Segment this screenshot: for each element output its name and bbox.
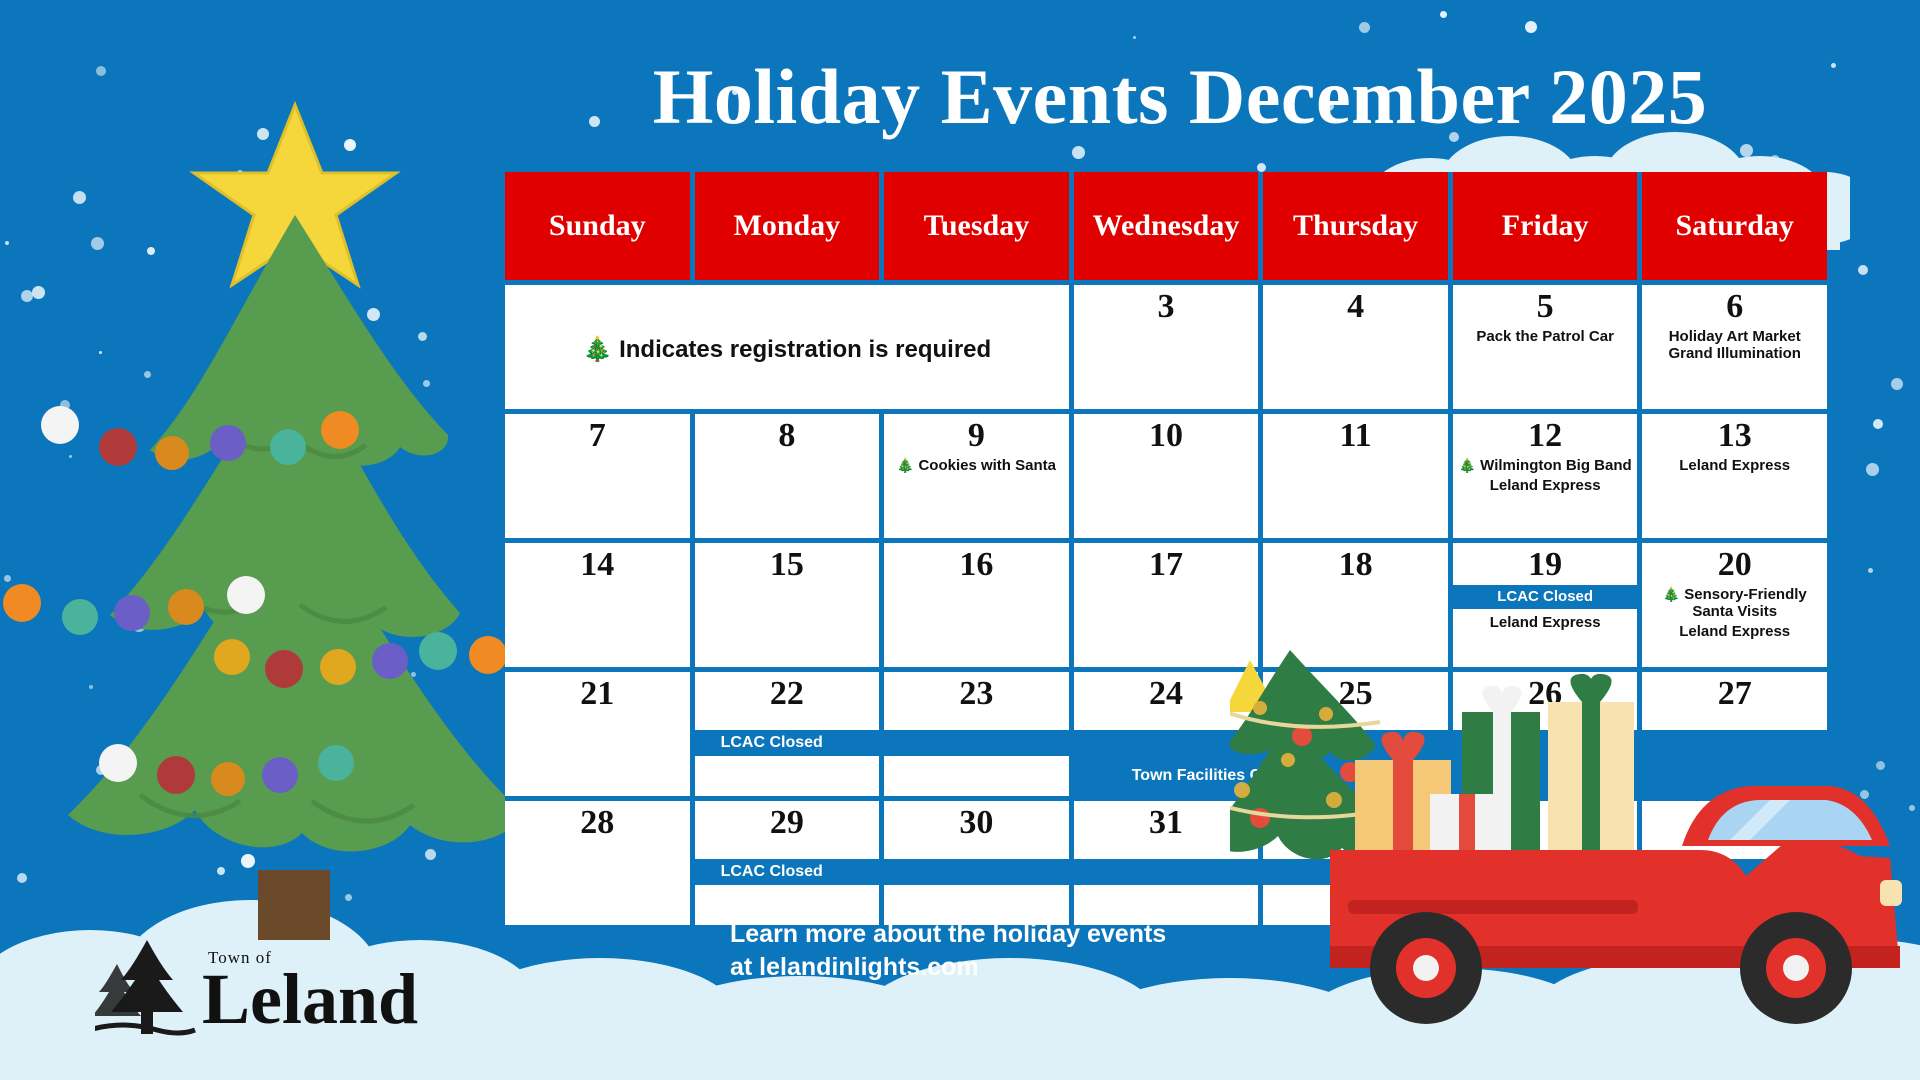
weekday-thursday: Thursday xyxy=(1263,172,1448,280)
day-number: 29 xyxy=(770,805,804,841)
day-cell-11[interactable]: 11 xyxy=(1263,414,1448,538)
christmas-tree-icon: 🎄 xyxy=(1459,457,1476,473)
calendar-week-2: 7 8 9 🎄 Cookies with Santa 10 11 12 🎄 Wi… xyxy=(505,414,1827,538)
day-number: 5 xyxy=(1537,289,1554,325)
day-cell-15[interactable]: 15 xyxy=(695,543,880,667)
event-label: 🎄 Cookies with Santa xyxy=(893,457,1060,474)
day-number: 4 xyxy=(1347,289,1364,325)
day-cell-14[interactable]: 14 xyxy=(505,543,690,667)
day-number: 15 xyxy=(770,547,804,583)
event-label: Pack the Patrol Car xyxy=(1472,328,1618,345)
day-cell-28[interactable]: 28 xyxy=(505,801,690,859)
day-cell-4[interactable]: 4 xyxy=(1263,285,1448,409)
christmas-tree-icon: 🎄 xyxy=(583,336,613,363)
christmas-tree-icon: 🎄 xyxy=(897,457,914,473)
event-label: Grand Illumination xyxy=(1664,345,1805,362)
day-cell-19[interactable]: 19 LCAC Closed Leland Express xyxy=(1453,543,1638,667)
day-number: 10 xyxy=(1149,418,1183,454)
day-number: 13 xyxy=(1718,418,1752,454)
day-cell-22[interactable]: 22 xyxy=(695,672,880,730)
day-number: 19 xyxy=(1528,547,1562,583)
event-label: Holiday Art Market xyxy=(1665,328,1805,345)
pine-trees-icon xyxy=(95,940,195,1034)
event-text: Cookies with Santa xyxy=(918,457,1056,474)
day-number: 14 xyxy=(580,547,614,583)
day-sub-cell xyxy=(884,756,1069,796)
day-number: 22 xyxy=(770,676,804,712)
weekday-monday: Monday xyxy=(695,172,880,280)
day-cell-5[interactable]: 5 Pack the Patrol Car xyxy=(1453,285,1638,409)
registration-note-text: Indicates registration is required xyxy=(619,336,991,363)
footer-info: Learn more about the holiday events at l… xyxy=(730,918,1166,984)
registration-note: 🎄 Indicates registration is required xyxy=(583,335,992,364)
day-cell-10[interactable]: 10 xyxy=(1074,414,1259,538)
day-number: 21 xyxy=(580,676,614,712)
day-number: 18 xyxy=(1339,547,1373,583)
day-cell-23[interactable]: 23 xyxy=(884,672,1069,730)
day-number: 17 xyxy=(1149,547,1183,583)
day-number: 3 xyxy=(1157,289,1174,325)
day-sub-cell xyxy=(695,756,880,796)
weekday-friday: Friday xyxy=(1453,172,1638,280)
red-truck-with-gifts-illustration xyxy=(1230,650,1920,1070)
event-text: Sensory-Friendly Santa Visits xyxy=(1684,586,1807,620)
day-number: 7 xyxy=(589,418,606,454)
event-text: Wilmington Big Band xyxy=(1480,457,1632,474)
weekday-saturday: Saturday xyxy=(1642,172,1827,280)
christmas-tree-icon: 🎄 xyxy=(1663,586,1680,602)
day-sub-cell xyxy=(505,885,690,925)
banner-spacer xyxy=(505,730,690,756)
gift-boxes xyxy=(1355,674,1634,852)
footer-line-1: Learn more about the holiday events xyxy=(730,918,1166,951)
logo-leland-label: Leland xyxy=(202,963,418,1035)
christmas-tree-illustration xyxy=(0,95,560,975)
day-number: 16 xyxy=(959,547,993,583)
registration-note-cell: 🎄 Indicates registration is required xyxy=(505,285,1069,409)
day-cell-17[interactable]: 17 xyxy=(1074,543,1259,667)
day-cell-21[interactable]: 21 xyxy=(505,672,690,730)
day-number: 8 xyxy=(778,418,795,454)
day-cell-8[interactable]: 8 xyxy=(695,414,880,538)
day-cell-20[interactable]: 20 🎄 Sensory-Friendly Santa Visits Lelan… xyxy=(1642,543,1827,667)
day-cell-7[interactable]: 7 xyxy=(505,414,690,538)
day-number: 11 xyxy=(1340,418,1372,454)
day-number: 20 xyxy=(1718,547,1752,583)
day-number: 9 xyxy=(968,418,985,454)
weekday-header-row: Sunday Monday Tuesday Wednesday Thursday… xyxy=(505,172,1827,280)
weekday-tuesday: Tuesday xyxy=(884,172,1069,280)
calendar-week-3: 14 15 16 17 18 19 LCAC Closed Leland Exp… xyxy=(505,543,1827,667)
footer-line-2: at lelandinlights.com xyxy=(730,951,1166,984)
event-label: Leland Express xyxy=(1675,457,1794,474)
day-number: 12 xyxy=(1528,418,1562,454)
day-cell-30[interactable]: 30 xyxy=(884,801,1069,859)
day-cell-13[interactable]: 13 Leland Express xyxy=(1642,414,1827,538)
day-cell-3[interactable]: 3 xyxy=(1074,285,1259,409)
weekday-wednesday: Wednesday xyxy=(1074,172,1259,280)
day-cell-9[interactable]: 9 🎄 Cookies with Santa xyxy=(884,414,1069,538)
day-cell-16[interactable]: 16 xyxy=(884,543,1069,667)
day-number: 28 xyxy=(580,805,614,841)
event-label: Leland Express xyxy=(1675,623,1794,640)
day-number: 23 xyxy=(959,676,993,712)
event-label: 🎄 Sensory-Friendly Santa Visits xyxy=(1642,586,1827,621)
day-sub-cell xyxy=(505,756,690,796)
closure-banner-lcac: LCAC Closed xyxy=(1453,585,1638,609)
event-label: Leland Express xyxy=(1453,609,1638,635)
day-number: 30 xyxy=(959,805,993,841)
day-cell-29[interactable]: 29 xyxy=(695,801,880,859)
day-number: 24 xyxy=(1149,676,1183,712)
day-number: 31 xyxy=(1149,805,1183,841)
day-number: 6 xyxy=(1726,289,1743,325)
calendar-week-1: 🎄 Indicates registration is required 3 4… xyxy=(505,285,1827,409)
day-cell-18[interactable]: 18 xyxy=(1263,543,1448,667)
day-cell-12[interactable]: 12 🎄 Wilmington Big Band Leland Express xyxy=(1453,414,1638,538)
weekday-sunday: Sunday xyxy=(505,172,690,280)
day-cell-6[interactable]: 6 Holiday Art Market Grand Illumination xyxy=(1642,285,1827,409)
page-title: Holiday Events December 2025 xyxy=(480,52,1880,142)
event-label: Leland Express xyxy=(1486,477,1605,494)
banner-spacer xyxy=(505,859,690,885)
event-label: 🎄 Wilmington Big Band xyxy=(1455,457,1636,474)
